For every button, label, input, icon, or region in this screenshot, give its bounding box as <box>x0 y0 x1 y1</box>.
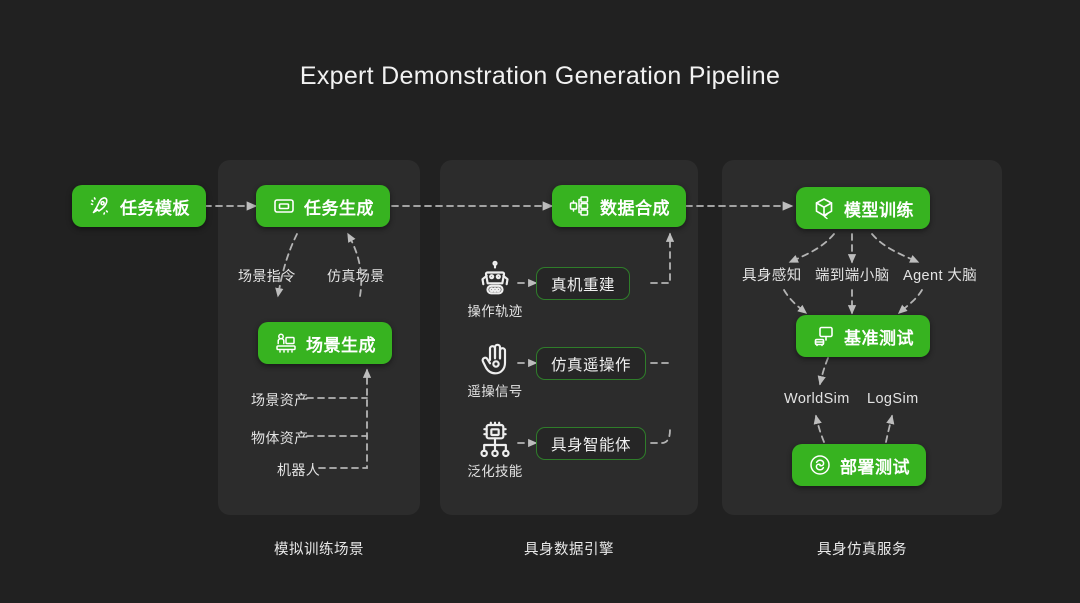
node-task-generation[interactable]: 任务生成 <box>256 185 390 227</box>
assembly-line-icon <box>274 331 298 355</box>
robot-icon <box>475 260 515 300</box>
chip-network-icon <box>475 420 515 460</box>
page-title: Expert Demonstration Generation Pipeline <box>0 62 1080 91</box>
label-agent-brain: Agent 大脑 <box>903 264 977 285</box>
task-panel-icon <box>272 194 296 218</box>
source-teleoperation-signal: 遥操信号 <box>463 340 527 401</box>
swirl-icon <box>808 453 832 477</box>
input-label-object-assets: 物体资产 <box>251 428 309 448</box>
input-label-robot: 机器人 <box>277 460 320 480</box>
node-label: 数据合成 <box>600 194 670 219</box>
source-generalization-skill: 泛化技能 <box>463 420 527 481</box>
input-label-scene-assets: 场景资产 <box>251 390 309 410</box>
node-label: 基准测试 <box>844 324 914 349</box>
edge-label-simulated-scene: 仿真场景 <box>327 266 385 286</box>
edge-label-scene-instruction: 场景指令 <box>238 266 296 286</box>
node-label: 模型训练 <box>844 196 914 221</box>
caption-panel-3: 具身仿真服务 <box>722 538 1002 559</box>
source-operation-trajectory: 操作轨迹 <box>463 260 527 321</box>
box-real-machine-reconstruction[interactable]: 真机重建 <box>536 267 630 300</box>
node-data-synthesis[interactable]: 数据合成 <box>552 185 686 227</box>
node-label: 场景生成 <box>306 331 376 356</box>
box-simulated-teleoperation[interactable]: 仿真遥操作 <box>536 347 646 380</box>
node-label: 任务生成 <box>304 194 374 219</box>
glove-icon <box>475 340 515 380</box>
pipeline-diagram: Expert Demonstration Generation Pipeline <box>0 0 1080 603</box>
data-merge-icon <box>568 194 592 218</box>
label-logsim: LogSim <box>867 391 919 407</box>
source-caption: 操作轨迹 <box>467 304 522 319</box>
node-label: 部署测试 <box>840 453 910 478</box>
box-label: 具身智能体 <box>551 433 631 455</box>
rocket-icon <box>88 194 112 218</box>
label-worldsim: WorldSim <box>784 391 850 407</box>
box-label: 真机重建 <box>551 273 615 295</box>
monitor-test-icon <box>812 324 836 348</box>
cube-train-icon <box>812 196 836 220</box>
node-scene-generation[interactable]: 场景生成 <box>258 322 392 364</box>
box-label: 仿真遥操作 <box>551 353 631 375</box>
node-label: 任务模板 <box>120 194 190 219</box>
source-caption: 遥操信号 <box>467 384 522 399</box>
box-embodied-agent[interactable]: 具身智能体 <box>536 427 646 460</box>
node-benchmark-test[interactable]: 基准测试 <box>796 315 930 357</box>
label-end-to-end-cerebellum: 端到端小脑 <box>815 264 890 285</box>
node-model-training[interactable]: 模型训练 <box>796 187 930 229</box>
node-task-template[interactable]: 任务模板 <box>72 185 206 227</box>
label-embodied-perception: 具身感知 <box>742 264 802 285</box>
caption-panel-2: 具身数据引擎 <box>440 538 698 559</box>
source-caption: 泛化技能 <box>467 464 522 479</box>
node-deployment-test[interactable]: 部署测试 <box>792 444 926 486</box>
caption-panel-1: 模拟训练场景 <box>218 538 420 559</box>
